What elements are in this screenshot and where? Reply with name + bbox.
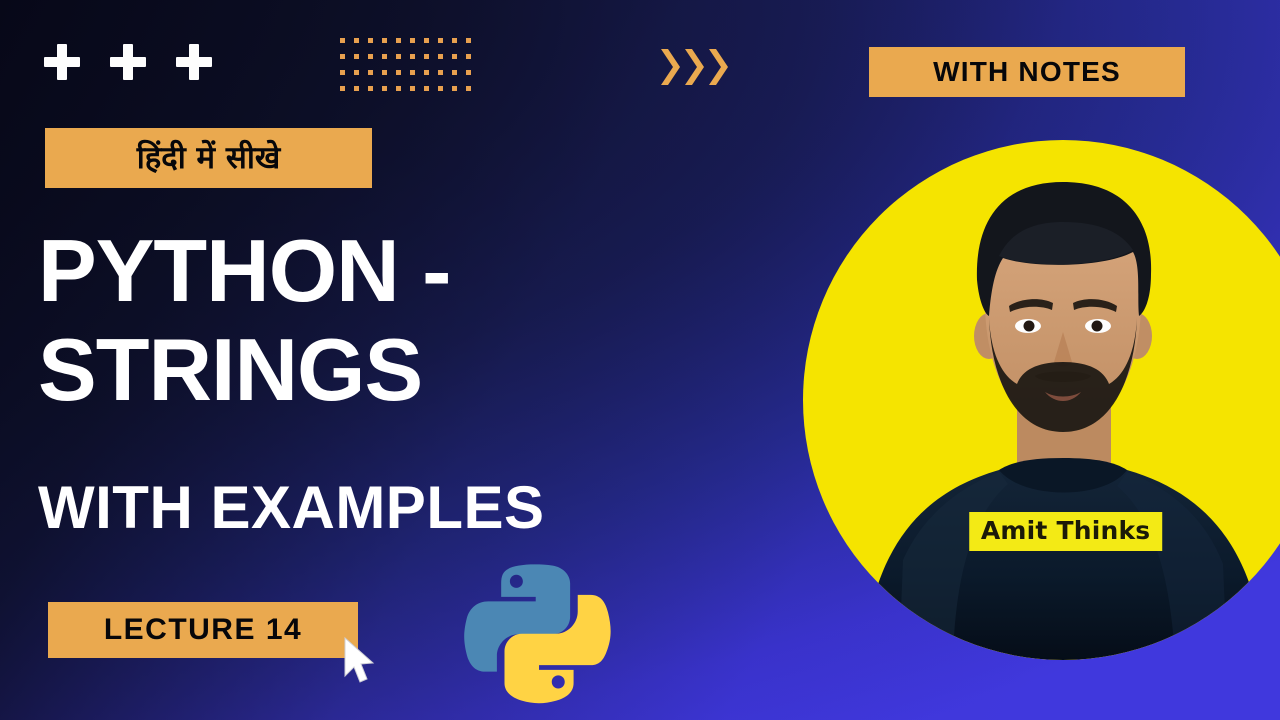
- grid-dot: [424, 38, 429, 43]
- grid-dot: [354, 38, 359, 43]
- grid-dot: [354, 70, 359, 75]
- title-line-1: PYTHON -: [38, 221, 450, 320]
- chevron-right-icon: [684, 46, 706, 88]
- grid-dot: [382, 54, 387, 59]
- page-title: PYTHON - STRINGS: [38, 222, 658, 419]
- grid-dot: [340, 38, 345, 43]
- grid-dot: [410, 54, 415, 59]
- grid-dot: [354, 54, 359, 59]
- instructor-portrait: [803, 140, 1280, 660]
- grid-dot: [410, 38, 415, 43]
- grid-dot: [410, 70, 415, 75]
- grid-dot: [340, 54, 345, 59]
- chevron-decoration-group: [660, 46, 730, 88]
- lecture-badge: LECTURE 14: [48, 602, 358, 658]
- chevron-right-icon: [660, 46, 682, 88]
- thumbnail-canvas: WITH NOTES हिंदी में सीखे LECTURE 14 PYT…: [0, 0, 1280, 720]
- grid-dot: [438, 54, 443, 59]
- avatar: Amit Thinks: [803, 140, 1280, 660]
- plus-decoration-group: [44, 44, 212, 80]
- grid-dot: [354, 86, 359, 91]
- grid-dot: [424, 70, 429, 75]
- grid-dot: [452, 54, 457, 59]
- plus-icon: [176, 44, 212, 80]
- with-notes-badge: WITH NOTES: [869, 47, 1185, 97]
- grid-dot: [368, 54, 373, 59]
- mouse-pointer-cursor: [342, 636, 376, 686]
- grid-dot: [396, 70, 401, 75]
- grid-dot: [410, 86, 415, 91]
- grid-dot: [438, 70, 443, 75]
- grid-dot: [466, 38, 471, 43]
- chevron-right-icon: [708, 46, 730, 88]
- grid-dot: [466, 54, 471, 59]
- grid-dot: [438, 38, 443, 43]
- grid-dot: [452, 38, 457, 43]
- grid-dot: [340, 86, 345, 91]
- grid-dot: [396, 86, 401, 91]
- grid-dot: [424, 54, 429, 59]
- grid-dot: [424, 86, 429, 91]
- grid-dot: [396, 54, 401, 59]
- subtitle: WITH EXAMPLES: [38, 478, 545, 538]
- shirt-brand-label: Amit Thinks: [969, 512, 1163, 551]
- title-line-2: STRINGS: [38, 321, 658, 420]
- grid-dot: [340, 70, 345, 75]
- grid-dot: [382, 70, 387, 75]
- avatar-circle-background: Amit Thinks: [803, 140, 1280, 660]
- plus-icon: [44, 44, 80, 80]
- grid-dot: [452, 70, 457, 75]
- grid-dot: [466, 70, 471, 75]
- grid-dot: [396, 38, 401, 43]
- grid-dot: [368, 70, 373, 75]
- hindi-badge: हिंदी में सीखे: [45, 128, 372, 188]
- dot-grid-decoration: [340, 38, 480, 102]
- grid-dot: [466, 86, 471, 91]
- python-logo-icon: [460, 556, 612, 708]
- grid-dot: [382, 86, 387, 91]
- plus-icon: [110, 44, 146, 80]
- grid-dot: [368, 38, 373, 43]
- grid-dot: [438, 86, 443, 91]
- grid-dot: [382, 38, 387, 43]
- grid-dot: [368, 86, 373, 91]
- grid-dot: [452, 86, 457, 91]
